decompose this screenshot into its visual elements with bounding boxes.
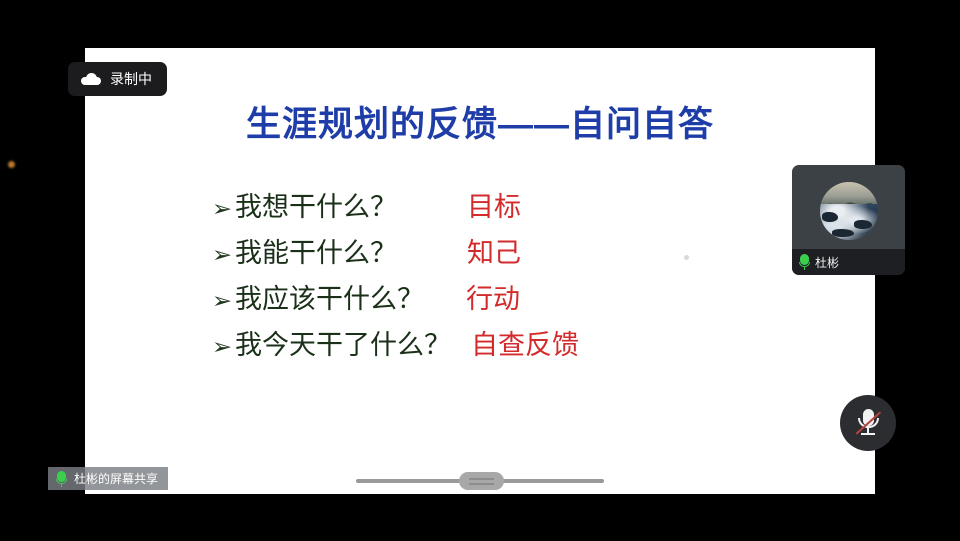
bullet-answer: 自查反馈: [471, 323, 579, 362]
bullet-arrow-icon: ➢: [212, 244, 236, 266]
microphone-on-icon: [56, 471, 67, 487]
participant-name: 杜彬: [815, 254, 839, 271]
slide-bullet-row: ➢ 我能干什么？ 知己: [213, 231, 853, 277]
lens-flare-dot: [8, 161, 15, 168]
avatar-rock: [854, 220, 872, 229]
view-slider[interactable]: [356, 472, 604, 490]
slide-bullet-row: ➢ 我今天干了什么？ 自查反馈: [213, 323, 853, 369]
slider-handle[interactable]: [459, 472, 504, 490]
bullet-arrow-icon: ➢: [212, 198, 236, 220]
avatar: [820, 182, 878, 240]
bullet-arrow-icon: ➢: [212, 336, 236, 358]
bullet-answer: 知己: [467, 231, 521, 270]
screen-share-viewport: 生涯规划的反馈——自问自答 ➢ 我想干什么？ 目标 ➢ 我能干什么？ 知己 ➢ …: [0, 0, 960, 541]
slide-bullet-list: ➢ 我想干什么？ 目标 ➢ 我能干什么？ 知己 ➢ 我应该干什么？ 行动 ➢ 我…: [213, 185, 853, 369]
recording-badge[interactable]: 录制中: [68, 62, 167, 96]
bullet-question: 我想干什么？: [235, 185, 397, 224]
screen-share-label: 杜彬的屏幕共享: [74, 470, 158, 487]
bullet-question: 我今天干了什么？: [235, 323, 451, 362]
slide-speck: [684, 255, 689, 260]
participant-tile[interactable]: 杜彬: [792, 165, 905, 275]
handle-grip-line: [469, 483, 494, 485]
handle-grip-line: [469, 478, 494, 480]
bullet-question: 我能干什么？: [235, 231, 397, 270]
mute-toggle-button[interactable]: [840, 395, 896, 451]
slide-bullet-row: ➢ 我想干什么？ 目标: [213, 185, 853, 231]
microphone-on-icon: [799, 254, 810, 270]
bullet-question: 我应该干什么？: [235, 277, 424, 316]
microphone-base: [861, 433, 875, 435]
shared-slide[interactable]: 生涯规划的反馈——自问自答 ➢ 我想干什么？ 目标 ➢ 我能干什么？ 知己 ➢ …: [85, 48, 875, 494]
slide-title: 生涯规划的反馈——自问自答: [85, 106, 875, 145]
bullet-answer: 目标: [467, 185, 521, 224]
recording-label: 录制中: [110, 69, 152, 89]
slide-bullet-row: ➢ 我应该干什么？ 行动: [213, 277, 853, 323]
avatar-rock: [822, 212, 838, 222]
cloud-icon: [81, 73, 101, 85]
avatar-rock: [832, 229, 854, 237]
participant-name-bar: 杜彬: [792, 249, 905, 275]
bullet-answer: 行动: [466, 277, 520, 316]
bullet-arrow-icon: ➢: [212, 290, 236, 312]
screen-share-indicator[interactable]: 杜彬的屏幕共享: [48, 467, 168, 490]
